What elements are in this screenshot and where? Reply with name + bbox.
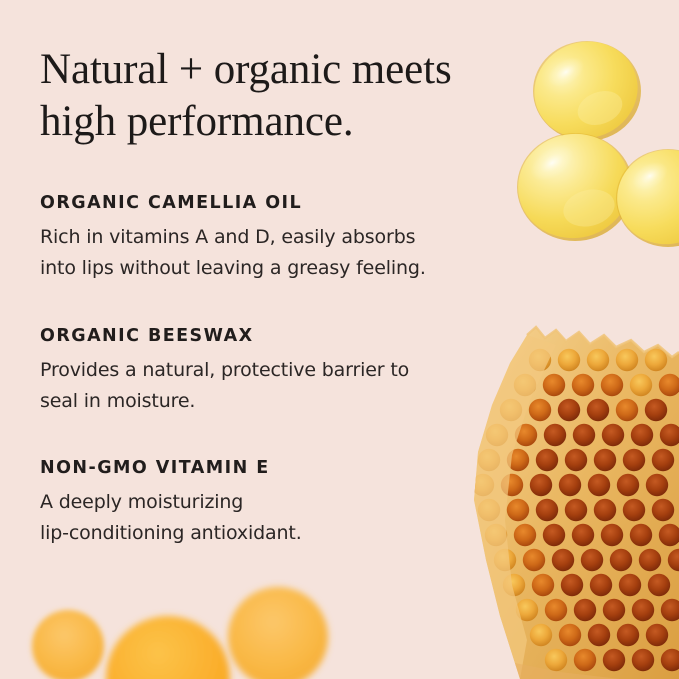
copy-block: Natural + organic meetshigh performance.… (40, 40, 510, 549)
benefit-description-line-1: A deeply moisturizing (40, 487, 510, 518)
amber-circle-cluster (32, 587, 328, 679)
oil-droplet-cluster (510, 28, 679, 254)
headline-line-2: high performance. (40, 98, 354, 145)
benefit-description: Provides a natural, protective barrier t… (40, 355, 510, 417)
amber-circle-left (32, 610, 104, 679)
benefit-title: NON-GMO VITAMIN E (40, 458, 510, 478)
benefit-title: ORGANIC CAMELLIA OIL (40, 193, 510, 213)
headline-line-1: Natural + organic meets (40, 46, 452, 93)
benefit-description-line-2: into lips without leaving a greasy feeli… (40, 253, 510, 284)
benefit-description-line-2: lip-conditioning antioxidant. (40, 518, 510, 549)
oil-droplet-left (510, 125, 638, 247)
benefit-description-line-1: Rich in vitamins A and D, easily absorbs (40, 222, 510, 253)
page-title: Natural + organic meetshigh performance. (40, 40, 510, 149)
amber-circle-center (106, 616, 230, 679)
amber-circle-right (228, 587, 328, 679)
promo-graphic: Natural + organic meetshigh performance.… (0, 0, 679, 679)
oil-droplet-right (607, 139, 679, 254)
oil-droplet-upper (522, 28, 651, 151)
benefit-description-line-2: seal in moisture. (40, 386, 510, 417)
benefit-title: ORGANIC BEESWAX (40, 326, 510, 346)
benefit-item-beeswax: ORGANIC BEESWAX Provides a natural, prot… (40, 326, 510, 417)
honeycomb-top-edge (527, 327, 679, 357)
benefit-description: Rich in vitamins A and D, easily absorbs… (40, 222, 510, 284)
benefit-description-line-1: Provides a natural, protective barrier t… (40, 355, 510, 386)
benefit-item-camellia-oil: ORGANIC CAMELLIA OIL Rich in vitamins A … (40, 193, 510, 284)
benefit-description: A deeply moisturizing lip-conditioning a… (40, 487, 510, 549)
benefit-item-vitamin-e: NON-GMO VITAMIN E A deeply moisturizing … (40, 458, 510, 549)
